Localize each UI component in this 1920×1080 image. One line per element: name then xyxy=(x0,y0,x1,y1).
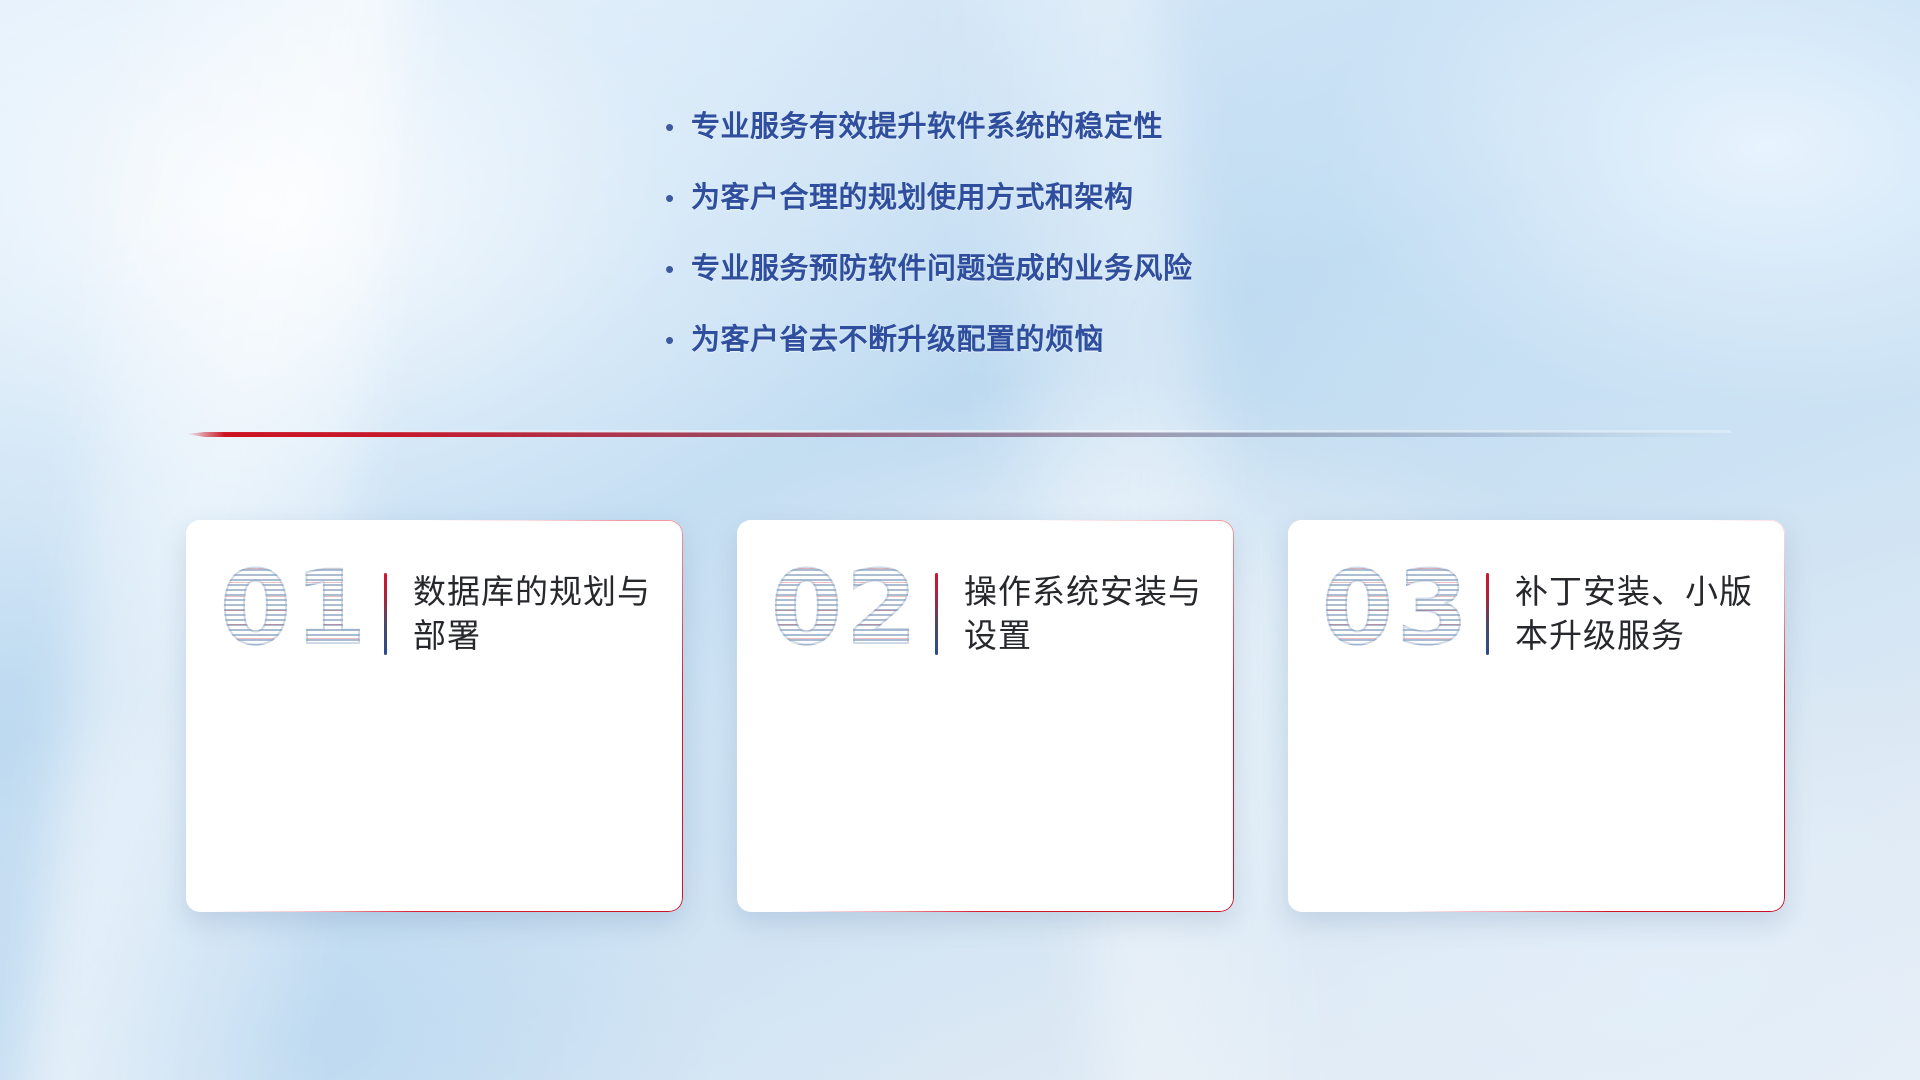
card-02[interactable]: 02 02 操作系统安装与设置 操作系统的安装环境网络调查、安装标准及复核步骤、… xyxy=(737,520,1234,912)
card-group: 01 01 数据库的规划与部署 协助客户规划数据库环境、数据库参数、数据库空间、… xyxy=(186,520,1786,912)
card-title: 数据库的规划与部署 xyxy=(413,570,653,658)
card-body-text: 操作系统的安装环境网络调查、安装标准及复核步骤、驱动程序的配置以及系统的设置等内… xyxy=(737,670,1234,853)
card-number: 01 01 xyxy=(220,560,380,668)
list-item: • 为客户省去不断升级配置的烦恼 xyxy=(665,321,1425,359)
list-item: • 为客户合理的规划使用方式和架构 xyxy=(665,179,1425,217)
bullet-dot-icon: • xyxy=(665,108,691,146)
card-divider-bar xyxy=(935,573,938,655)
bullet-dot-icon: • xyxy=(665,250,691,288)
bullet-dot-icon: • xyxy=(665,321,691,359)
card-title: 补丁安装、小版本升级服务 xyxy=(1515,570,1755,658)
bullet-list: • 专业服务有效提升软件系统的稳定性 • 为客户合理的规划使用方式和架构 • 专… xyxy=(665,108,1425,392)
card-01[interactable]: 01 01 数据库的规划与部署 协助客户规划数据库环境、数据库参数、数据库空间、… xyxy=(186,520,683,912)
bullet-dot-icon: • xyxy=(665,179,691,217)
card-divider-bar xyxy=(384,573,387,655)
section-divider xyxy=(186,430,1731,440)
card-number: 02 02 xyxy=(771,560,931,668)
card-header: 01 01 数据库的规划与部署 xyxy=(186,520,683,670)
card-03[interactable]: 03 03 补丁安装、小版本升级服务 评估版本升级及补丁安装的必要性，并提交实施… xyxy=(1288,520,1785,912)
card-body-text: 评估版本升级及补丁安装的必要性，并提交实施计划。 xyxy=(1288,670,1785,808)
card-header: 03 03 补丁安装、小版本升级服务 xyxy=(1288,520,1785,670)
bullet-text: 专业服务预防软件问题造成的业务风险 xyxy=(691,250,1193,288)
card-title: 操作系统安装与设置 xyxy=(964,570,1204,658)
bullet-text: 为客户省去不断升级配置的烦恼 xyxy=(691,321,1104,359)
list-item: • 专业服务预防软件问题造成的业务风险 xyxy=(665,250,1425,288)
card-body-text: 协助客户规划数据库环境、数据库参数、数据库空间、数据库对象等部署落地。 xyxy=(186,670,683,808)
card-divider-bar xyxy=(1486,573,1489,655)
card-number-red-stripes: 03 xyxy=(1322,554,1472,664)
card-number: 03 03 xyxy=(1322,560,1482,668)
card-header: 02 02 操作系统安装与设置 xyxy=(737,520,1234,670)
list-item: • 专业服务有效提升软件系统的稳定性 xyxy=(665,108,1425,146)
card-number-red-stripes: 01 xyxy=(220,554,370,664)
card-number-red-stripes: 02 xyxy=(771,554,921,664)
bullet-text: 为客户合理的规划使用方式和架构 xyxy=(691,179,1134,217)
divider-highlight xyxy=(186,430,1731,433)
bullet-text: 专业服务有效提升软件系统的稳定性 xyxy=(691,108,1163,146)
